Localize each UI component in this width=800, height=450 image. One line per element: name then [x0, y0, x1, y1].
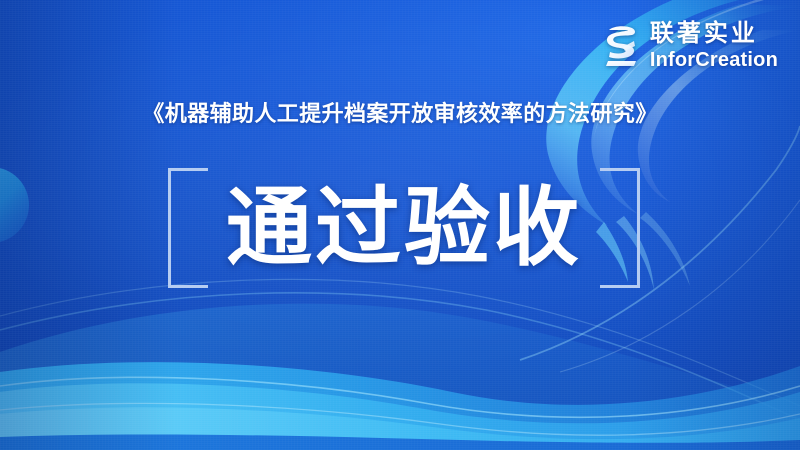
brand-logo: 联著实业 InforCreation — [603, 22, 778, 70]
bracket-right — [600, 168, 640, 288]
headline-text: 通过验收 — [208, 168, 600, 288]
headline-block: 通过验收 — [168, 168, 640, 288]
brand-name-cn: 联著实业 — [650, 22, 758, 46]
poster-canvas: 联著实业 InforCreation 《机器辅助人工提升档案开放审核效率的方法研… — [0, 0, 800, 450]
inforcreation-logo-mark — [603, 23, 641, 69]
brand-name-en: InforCreation — [650, 50, 778, 70]
bracket-left — [168, 168, 208, 288]
paper-title: 《机器辅助人工提升档案开放审核效率的方法研究》 — [0, 99, 800, 129]
brand-text-block: 联著实业 InforCreation — [650, 22, 778, 70]
